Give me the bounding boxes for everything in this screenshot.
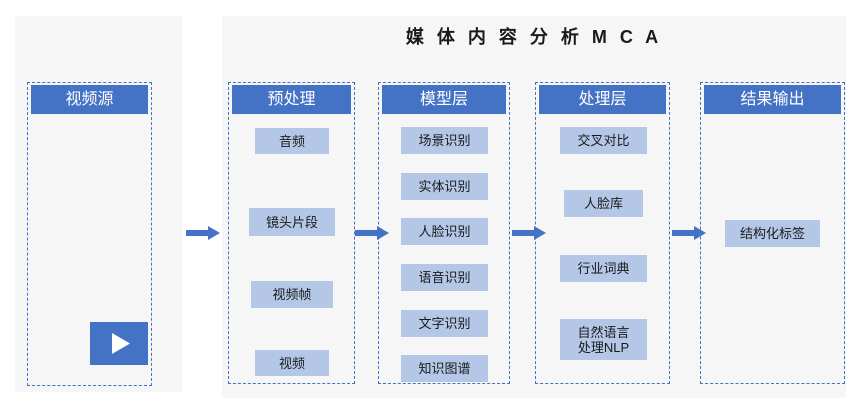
diagram-canvas: 媒 体 内 容 分 析 M C A 视频源 预处理 音频 镜头片段 视频帧 视频 (0, 0, 859, 411)
stage-header-model-layer: 模型层 (382, 85, 506, 114)
chip-industry-lexicon[interactable]: 行业词典 (560, 255, 647, 282)
chip-video-frame[interactable]: 视频帧 (251, 281, 333, 308)
stage-body-processing-layer: 交叉对比 人脸库 行业词典 自然语言 处理NLP (536, 114, 669, 383)
stage-preprocess: 预处理 音频 镜头片段 视频帧 视频 (228, 82, 355, 384)
chip-nlp[interactable]: 自然语言 处理NLP (560, 319, 647, 360)
stage-model-layer: 模型层 场景识别 实体识别 人脸识别 语音识别 文字识别 知识图谱 (378, 82, 510, 384)
chip-text-recognition[interactable]: 文字识别 (401, 310, 488, 337)
arrow-source-to-preprocess (186, 226, 220, 240)
stage-header-preprocess: 预处理 (232, 85, 351, 114)
chip-scene-recognition[interactable]: 场景识别 (401, 127, 488, 154)
chip-face-recognition[interactable]: 人脸识别 (401, 218, 488, 245)
stage-body-preprocess: 音频 镜头片段 视频帧 视频 (229, 114, 354, 383)
stage-body-video-source (28, 114, 151, 385)
chip-speech-recognition[interactable]: 语音识别 (401, 264, 488, 291)
stage-header-processing-layer: 处理层 (539, 85, 666, 114)
chip-cross-comparison[interactable]: 交叉对比 (560, 127, 647, 154)
chip-entity-recognition[interactable]: 实体识别 (401, 173, 488, 200)
chip-structured-tags[interactable]: 结构化标签 (725, 220, 820, 247)
stage-header-result-output: 结果输出 (704, 85, 841, 114)
chip-knowledge-graph[interactable]: 知识图谱 (401, 355, 488, 382)
play-icon[interactable] (90, 322, 148, 365)
chip-video[interactable]: 视频 (255, 350, 329, 376)
stage-body-model-layer: 场景识别 实体识别 人脸识别 语音识别 文字识别 知识图谱 (379, 114, 509, 383)
stage-result-output: 结果输出 结构化标签 (700, 82, 845, 384)
stage-header-video-source: 视频源 (31, 85, 148, 114)
stage-processing-layer: 处理层 交叉对比 人脸库 行业词典 自然语言 处理NLP (535, 82, 670, 384)
chip-shot-segment[interactable]: 镜头片段 (249, 208, 335, 236)
chip-face-database[interactable]: 人脸库 (564, 190, 643, 217)
stage-video-source: 视频源 (27, 82, 152, 386)
chip-audio[interactable]: 音频 (255, 128, 329, 154)
stage-body-result-output: 结构化标签 (701, 114, 844, 383)
page-title: 媒 体 内 容 分 析 M C A (222, 17, 846, 57)
